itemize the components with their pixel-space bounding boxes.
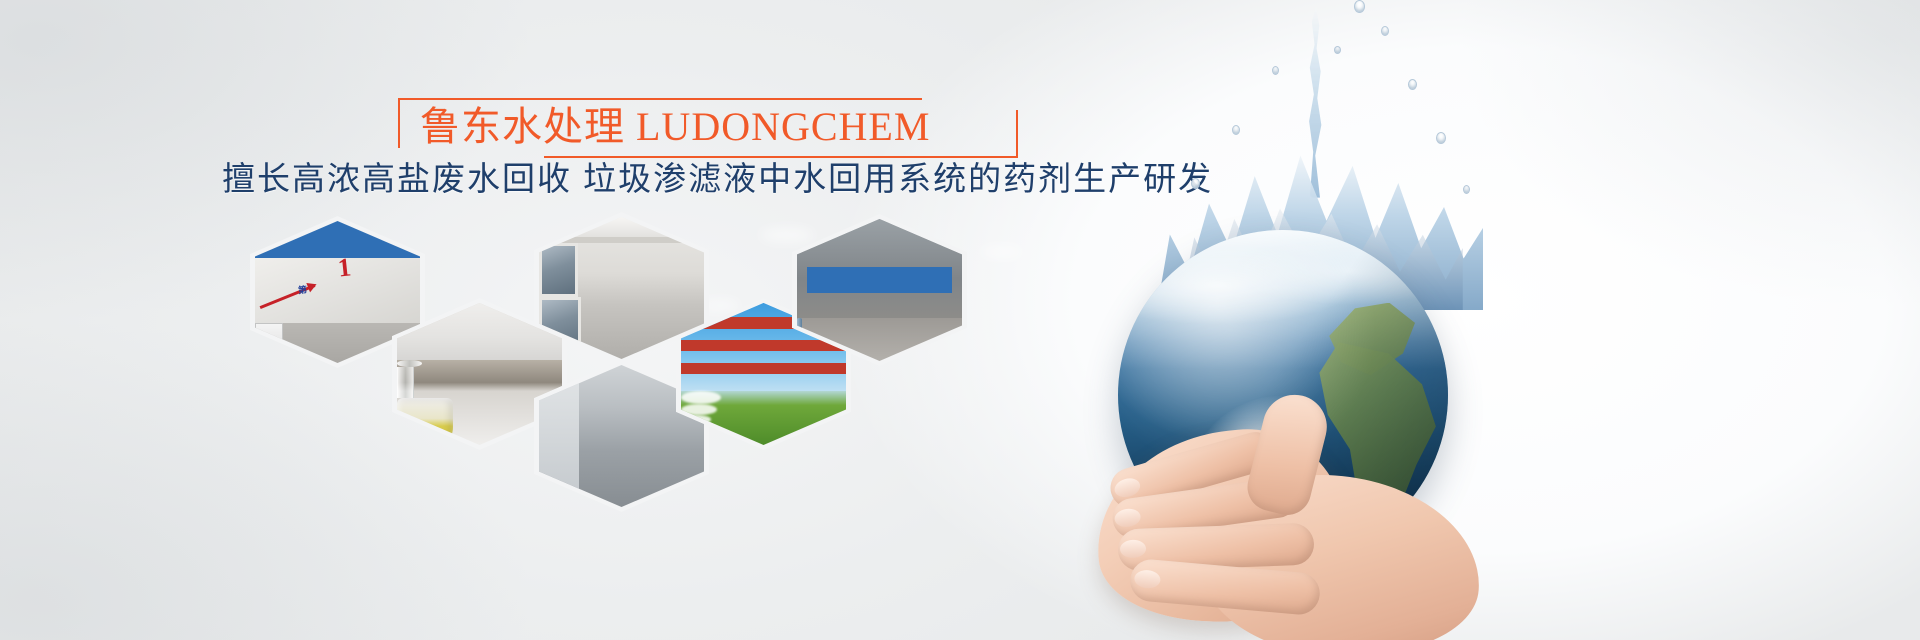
water-droplet — [1272, 66, 1279, 75]
water-droplet — [1191, 178, 1200, 189]
water-droplet — [1436, 132, 1446, 144]
water-globe-artwork — [1030, 0, 1590, 640]
flask-neck — [397, 367, 414, 398]
wall-slogan-mid: 第 — [297, 283, 307, 297]
headline-block: 鲁东水处理 LUDONGCHEM — [398, 98, 1018, 158]
water-droplet — [1354, 0, 1365, 13]
fingernail — [1134, 569, 1161, 589]
water-droplet — [1232, 125, 1240, 135]
wall-slogan-top: 放在 — [264, 221, 283, 235]
headline-bracket-right — [998, 110, 1018, 158]
window — [539, 243, 578, 297]
mist-blob — [980, 246, 1024, 258]
flask-body — [397, 398, 453, 445]
water-droplet — [1334, 46, 1341, 54]
cupped-hands-icon — [1060, 380, 1510, 640]
page-title: 鲁东水处理 LUDONGCHEM — [420, 100, 996, 154]
water-droplet — [1381, 26, 1389, 36]
hexagon-gallery: 放在 第 1 — [240, 212, 960, 542]
water-droplet — [1463, 185, 1470, 194]
cabinet — [255, 323, 283, 363]
hero-banner: 鲁东水处理 LUDONGCHEM 擅长高浓高盐废水回收 垃圾渗滤液中水回用系统的… — [0, 0, 1920, 640]
ceiling — [539, 217, 704, 237]
fingernail — [1113, 507, 1141, 528]
wall-slogan-number: 1 — [336, 254, 352, 281]
headline-bracket-left — [398, 98, 418, 148]
fingernail — [1120, 539, 1147, 558]
cloud — [681, 391, 721, 404]
flask-lip — [397, 360, 422, 367]
water-droplet — [1408, 79, 1417, 90]
